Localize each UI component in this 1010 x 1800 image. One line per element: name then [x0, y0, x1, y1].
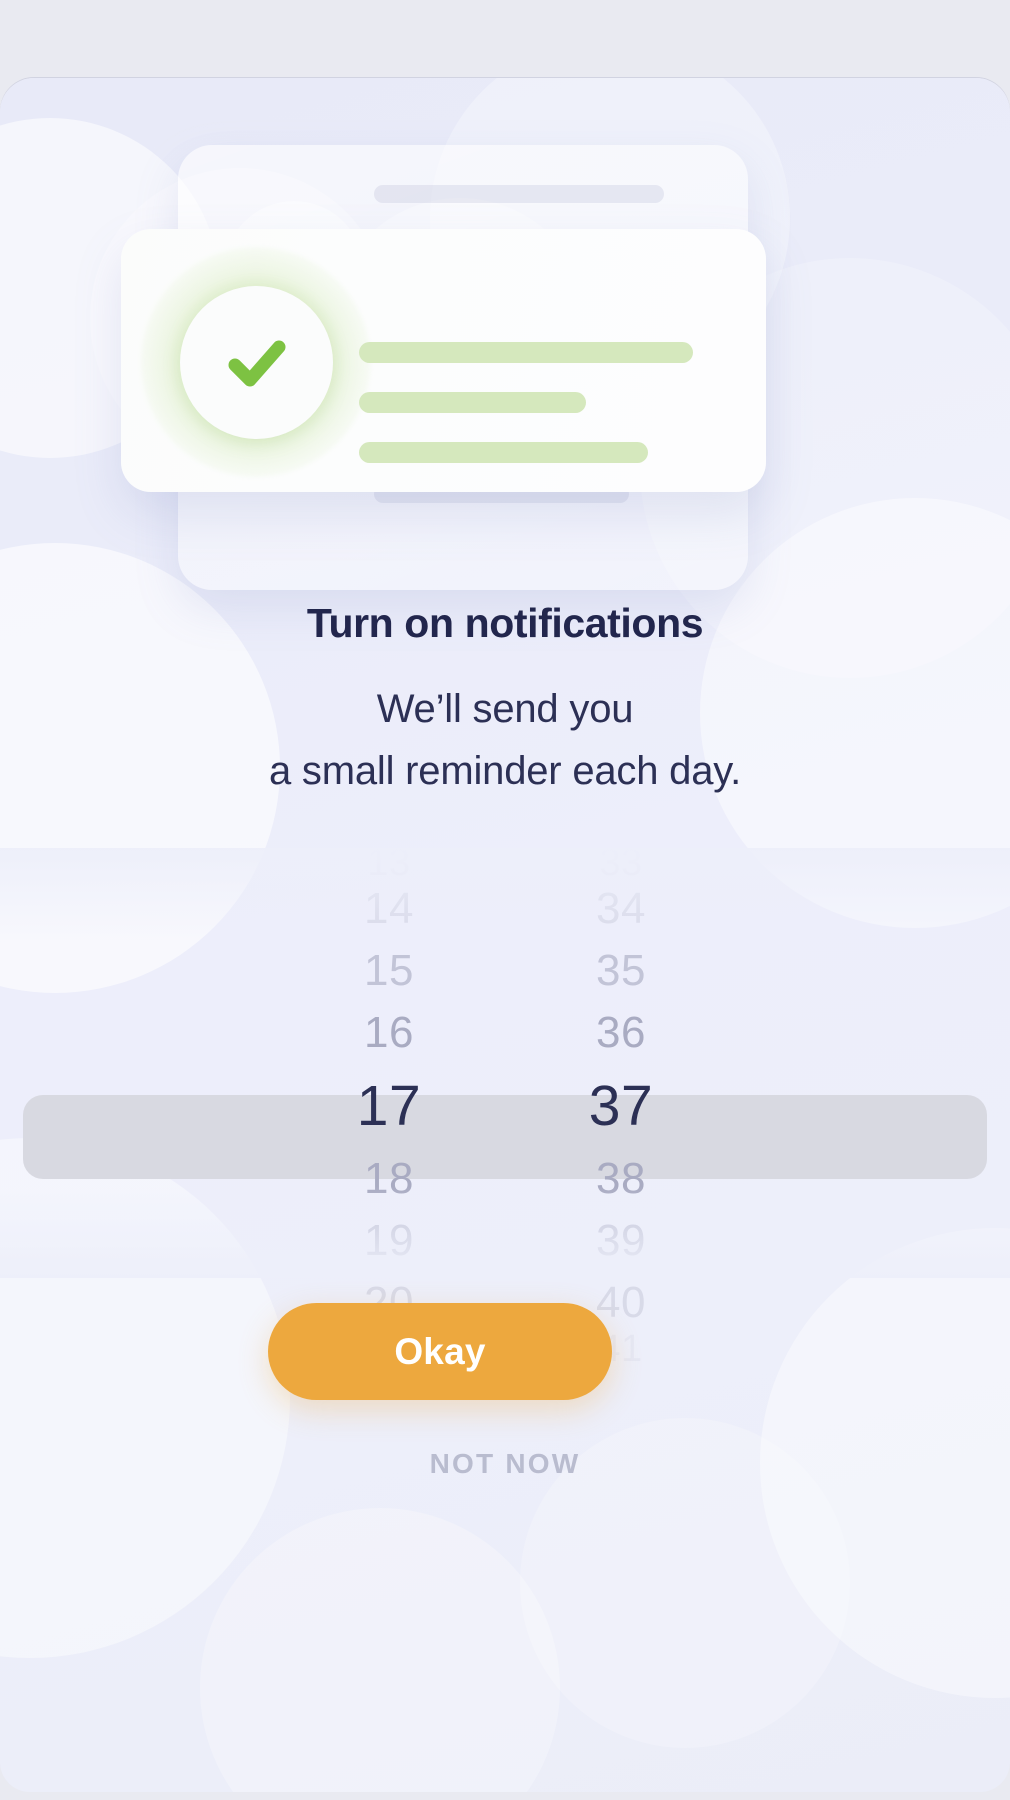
subtitle-line-2: a small reminder each day.	[0, 740, 1010, 802]
hour-option[interactable]: 14	[325, 878, 453, 940]
notification-text-bar	[359, 342, 693, 363]
check-icon	[211, 317, 303, 409]
minute-option[interactable]: 34	[557, 878, 685, 940]
minute-option[interactable]: 38	[557, 1148, 685, 1210]
okay-button[interactable]: Okay	[268, 1303, 612, 1400]
hour-option-selected[interactable]: 17	[325, 1064, 453, 1148]
hour-option[interactable]: 13	[325, 848, 453, 878]
background-blob	[200, 1508, 560, 1792]
not-now-button[interactable]: NOT NOW	[0, 1448, 1010, 1480]
screenshot-frame: Turn on notifications We’ll send you a s…	[0, 0, 1010, 1800]
minute-column[interactable]: 33 34 35 36 37 38 39 40 41	[557, 848, 685, 1278]
page-title: Turn on notifications	[0, 600, 1010, 647]
hour-option[interactable]: 15	[325, 940, 453, 1002]
hour-option[interactable]: 18	[325, 1148, 453, 1210]
hour-column[interactable]: 13 14 15 16 17 18 19 20 21	[325, 848, 453, 1278]
minute-option-selected[interactable]: 37	[557, 1064, 685, 1148]
hour-option[interactable]: 19	[325, 1210, 453, 1272]
minute-option[interactable]: 35	[557, 940, 685, 1002]
check-badge	[180, 286, 333, 439]
minute-option[interactable]: 36	[557, 1002, 685, 1064]
foreground-notification-card	[121, 229, 766, 492]
app-screen: Turn on notifications We’ll send you a s…	[0, 78, 1010, 1792]
minute-option[interactable]: 39	[557, 1210, 685, 1272]
notification-text-bar	[359, 392, 586, 413]
placeholder-text-bar	[374, 185, 664, 203]
minute-option[interactable]: 33	[557, 848, 685, 878]
notification-text-bar	[359, 442, 648, 463]
reminder-time-picker[interactable]: 13 14 15 16 17 18 19 20 21 33 34 35 36 3…	[0, 848, 1010, 1278]
page-subtitle: We’ll send you a small reminder each day…	[0, 678, 1010, 802]
hour-option[interactable]: 16	[325, 1002, 453, 1064]
notification-card-illustration	[0, 78, 1010, 638]
subtitle-line-1: We’ll send you	[0, 678, 1010, 740]
